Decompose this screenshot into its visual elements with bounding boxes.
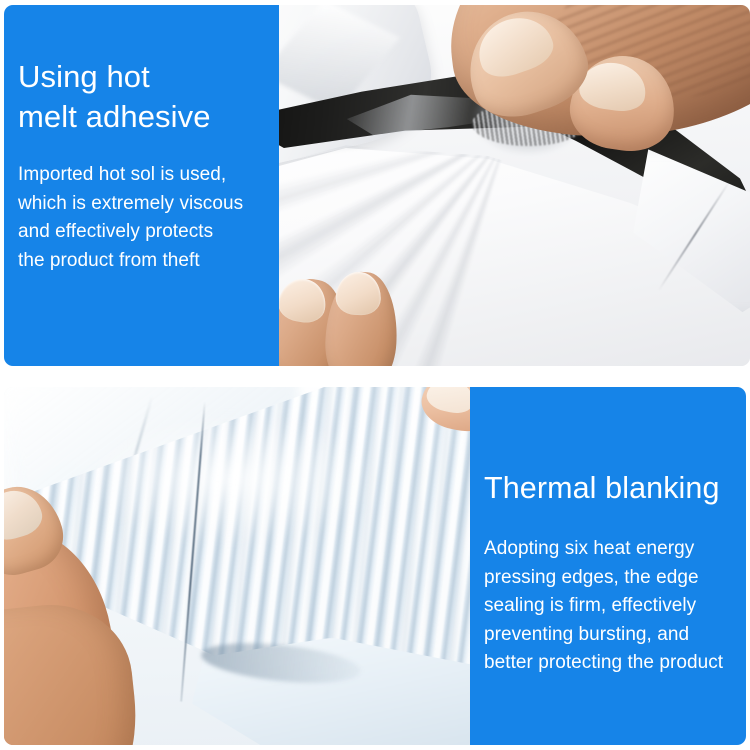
text-panel-hot-melt-adhesive: Using hot melt adhesive Imported hot sol… <box>4 5 279 366</box>
heading-thermal-blanking: Thermal blanking <box>484 469 746 507</box>
feature-card-hot-melt-adhesive: Using hot melt adhesive Imported hot sol… <box>4 5 750 366</box>
body-hot-melt-adhesive: Imported hot sol is used, which is extre… <box>18 161 279 275</box>
photo-hand-peeling-adhesive-liner <box>279 5 750 366</box>
body-thermal-blanking: Adopting six heat energy pressing edges,… <box>484 535 746 678</box>
product-feature-page: Using hot melt adhesive Imported hot sol… <box>0 0 750 750</box>
specular-highlight <box>70 416 418 574</box>
text-panel-thermal-blanking: Thermal blanking Adopting six heat energ… <box>470 387 746 745</box>
feature-card-thermal-blanking: Thermal blanking Adopting six heat energ… <box>4 387 746 745</box>
heading-hot-melt-adhesive: Using hot melt adhesive <box>18 57 279 137</box>
photo-hands-stretching-sealed-mailer <box>4 387 474 745</box>
